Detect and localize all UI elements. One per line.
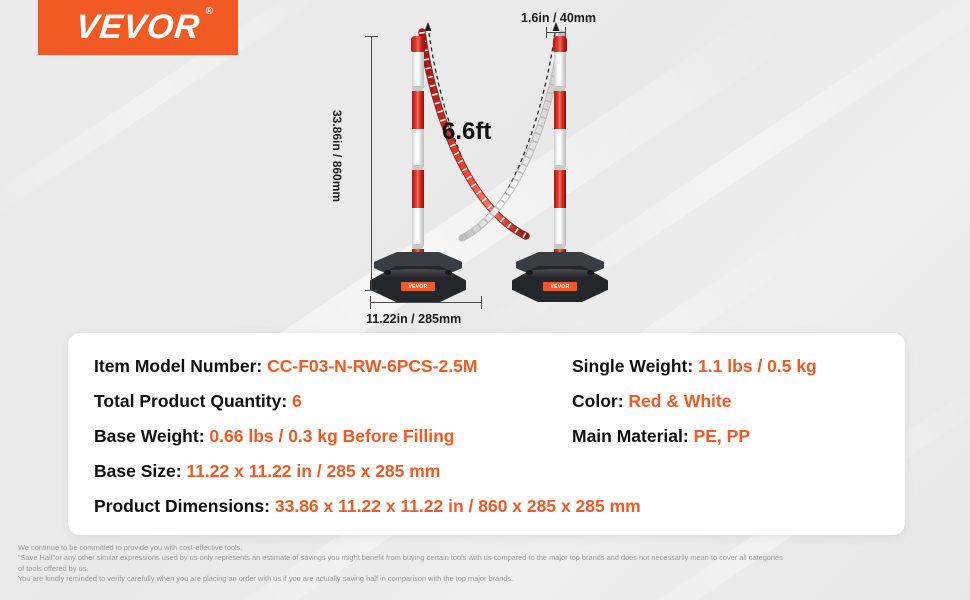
spec-label: Item Model Number:	[94, 356, 262, 376]
height-tick-top	[365, 36, 378, 37]
spec-label: Main Material:	[572, 426, 689, 446]
spec-value: Red & White	[628, 391, 731, 411]
base-width-dimension-line	[370, 302, 482, 303]
registered-trademark-icon: ®	[205, 6, 213, 17]
base-badge-text: VEVOR	[408, 284, 427, 290]
spec-row: Total Product Quantity: 6 Color: Red & W…	[94, 384, 885, 419]
logo-text: VEVOR	[74, 8, 202, 46]
spec-single-weight: Single Weight: 1.1 lbs / 0.5 kg	[572, 349, 885, 384]
logo-wordmark: VEVOR ®	[74, 8, 202, 47]
spec-label: Product Dimensions:	[94, 496, 270, 516]
spec-main-material: Main Material: PE, PP	[572, 419, 885, 454]
spec-column-right: Main Material: PE, PP	[572, 419, 885, 454]
spec-label: Base Weight:	[94, 426, 205, 446]
spec-column-left: Item Model Number: CC-F03-N-RW-6PCS-2.5M	[94, 349, 572, 384]
spec-total-product-quantity: Total Product Quantity: 6	[94, 384, 572, 419]
base-hole	[587, 270, 594, 275]
spec-base-weight: Base Weight: 0.66 lbs / 0.3 kg Before Fi…	[94, 419, 572, 454]
base-width-tick-right	[481, 296, 482, 309]
post-segment-red	[554, 170, 566, 208]
spec-value: 0.66 lbs / 0.3 kg Before Filling	[209, 426, 454, 446]
spec-item-model-number: Item Model Number: CC-F03-N-RW-6PCS-2.5M	[94, 349, 572, 384]
spec-label: Single Weight:	[572, 356, 693, 376]
post-segment-white	[412, 52, 424, 88]
post-right	[552, 36, 568, 276]
post-segment-white	[554, 52, 566, 88]
disclaimer-line-1: We continue to be committed to provide y…	[18, 543, 958, 553]
post-segment-white	[412, 129, 424, 167]
spec-product-dimensions: Product Dimensions: 33.86 x 11.22 x 11.2…	[94, 489, 885, 524]
spec-row: Item Model Number: CC-F03-N-RW-6PCS-2.5M…	[94, 349, 885, 384]
base-right: VEVOR	[512, 252, 608, 306]
spec-color: Color: Red & White	[572, 384, 885, 419]
spec-value: 6	[292, 391, 302, 411]
spec-value: 33.86 x 11.22 x 11.22 in / 860 x 285 x 2…	[275, 496, 641, 516]
post-diameter-dimension-label: 1.6in / 40mm	[521, 11, 596, 25]
disclaimer: We continue to be committed to provide y…	[18, 543, 958, 585]
vevor-logo: VEVOR ®	[38, 0, 238, 55]
post-left	[410, 36, 426, 276]
spec-column-right: Single Weight: 1.1 lbs / 0.5 kg	[572, 349, 885, 384]
spec-column-right: Color: Red & White	[572, 384, 885, 419]
chain-length-label: 6.6ft	[442, 118, 491, 146]
spec-label: Color:	[572, 391, 624, 411]
base-brand-badge: VEVOR	[543, 282, 577, 291]
base-width-dimension-label: 11.22in / 285mm	[366, 312, 461, 326]
spec-value: 1.1 lbs / 0.5 kg	[698, 356, 817, 376]
base-hole	[445, 270, 452, 275]
height-tick-bottom	[365, 290, 378, 291]
height-dimension-label: 33.86in / 860mm	[330, 110, 344, 202]
spec-label: Total Product Quantity:	[94, 391, 287, 411]
base-left: VEVOR	[370, 252, 466, 306]
post-cap	[553, 36, 567, 52]
spec-column-left: Base Weight: 0.66 lbs / 0.3 kg Before Fi…	[94, 419, 572, 454]
post-diameter-tick-right	[565, 27, 566, 38]
arrow-head-left	[425, 22, 432, 31]
post-segment-white	[412, 208, 424, 246]
post-segment-white	[554, 129, 566, 167]
post-segment-red	[554, 91, 566, 129]
spec-column-left: Total Product Quantity: 6	[94, 384, 572, 419]
base-brand-badge: VEVOR	[401, 282, 435, 291]
spec-label: Base Size:	[94, 461, 182, 481]
infographic-canvas: VEVOR ®	[0, 0, 970, 600]
specification-grid: Item Model Number: CC-F03-N-RW-6PCS-2.5M…	[94, 349, 885, 524]
spec-value: 11.22 x 11.22 in / 285 x 285 mm	[186, 461, 440, 481]
post-segment-white	[554, 208, 566, 246]
disclaimer-line-3: of tools offered by us.	[18, 564, 958, 574]
disclaimer-line-4: You are kindly reminded to verify carefu…	[18, 574, 958, 584]
post-segment-red	[412, 170, 424, 208]
base-hole	[384, 270, 391, 275]
height-dimension-line	[371, 36, 372, 290]
spec-value: CC-F03-N-RW-6PCS-2.5M	[267, 356, 477, 376]
post-segment-red	[412, 91, 424, 129]
post-diameter-dimension-line	[546, 32, 566, 33]
post-cap	[411, 36, 425, 52]
post-diameter-tick-left	[546, 27, 547, 38]
specification-card: Item Model Number: CC-F03-N-RW-6PCS-2.5M…	[68, 333, 905, 535]
base-width-tick-left	[370, 296, 371, 309]
disclaimer-line-2: "Save Half"or any other similar expressi…	[18, 553, 958, 563]
spec-value: PE, PP	[694, 426, 750, 446]
base-badge-text: VEVOR	[550, 284, 569, 290]
base-hole	[526, 270, 533, 275]
spec-base-size: Base Size: 11.22 x 11.22 in / 285 x 285 …	[94, 454, 885, 489]
spec-row: Base Weight: 0.66 lbs / 0.3 kg Before Fi…	[94, 419, 885, 454]
product-illustration: VEVOR VEVOR 6.6ft	[330, 0, 630, 330]
